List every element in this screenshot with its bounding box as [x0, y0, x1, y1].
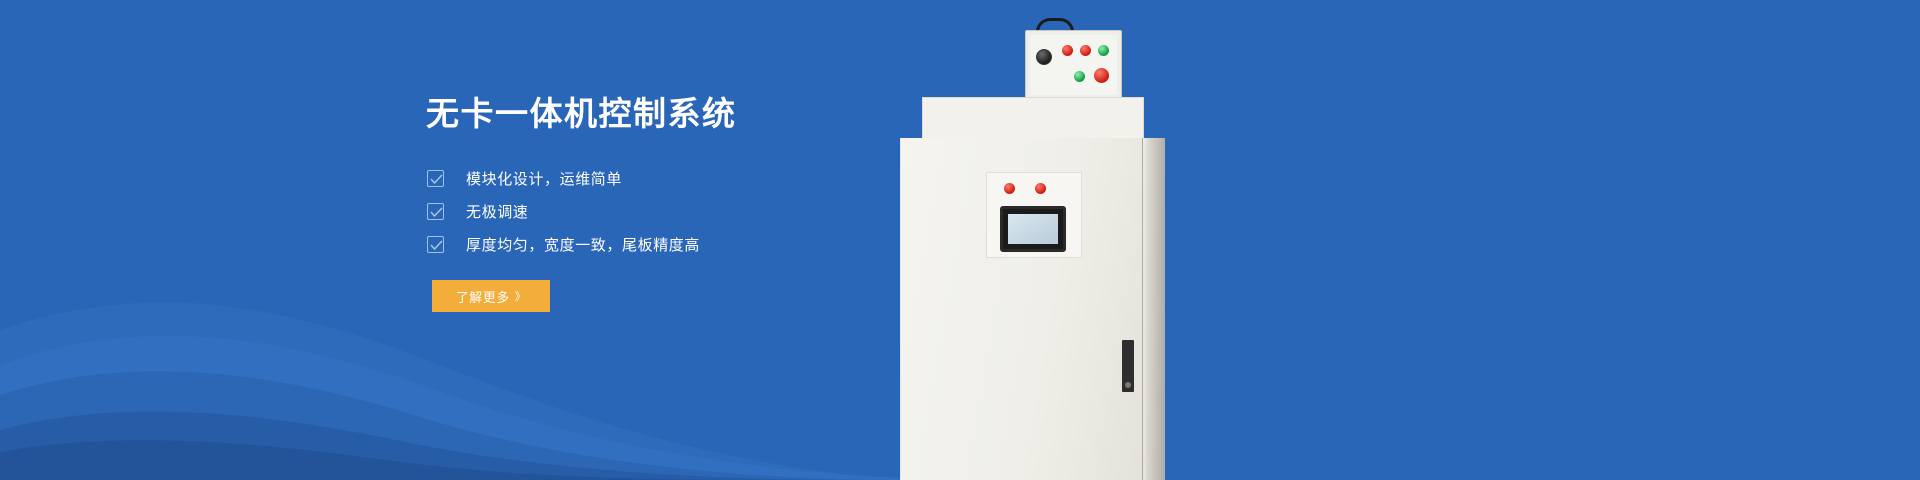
cabinet-lock-icon	[1125, 382, 1131, 388]
indicator-lamp-red	[1094, 68, 1109, 83]
feature-item: 模块化设计，运维简单	[427, 162, 700, 195]
hmi-screen-surface	[1008, 214, 1058, 244]
feature-label: 无极调速	[466, 201, 528, 222]
learn-more-button[interactable]: 了解更多 》	[432, 280, 550, 312]
indicator-lamp-green	[1074, 71, 1085, 82]
checkbox-check-icon	[427, 170, 444, 187]
learn-more-label: 了解更多	[456, 287, 510, 306]
page-title: 无卡一体机控制系统	[426, 94, 737, 134]
hmi-touchscreen	[1000, 206, 1066, 252]
checkbox-check-icon	[427, 203, 444, 220]
cabinet-side-shading	[1146, 138, 1165, 480]
banner-content: 无卡一体机控制系统 模块化设计，运维简单 无极调速	[426, 0, 946, 480]
cabinet-top-ledge	[922, 97, 1144, 139]
feature-list: 模块化设计，运维简单 无极调速 厚度均匀，宽度一致，尾板精度高	[427, 162, 700, 261]
checkbox-check-icon	[427, 236, 444, 253]
feature-label: 厚度均匀，宽度一致，尾板精度高	[466, 234, 700, 255]
feature-item: 厚度均匀，宽度一致，尾板精度高	[427, 228, 700, 261]
top-control-box	[1025, 30, 1122, 100]
hero-banner: 无卡一体机控制系统 模块化设计，运维简单 无极调速	[0, 0, 1920, 480]
cabinet-vent-slot	[1122, 340, 1134, 392]
cabinet-door-seam	[1142, 138, 1143, 480]
selector-knob-icon	[1036, 49, 1052, 65]
panel-lamp-red	[1004, 183, 1015, 194]
indicator-lamp-green	[1098, 45, 1109, 56]
feature-label: 模块化设计，运维简单	[466, 168, 622, 189]
chevron-right-icon: 》	[515, 288, 527, 304]
indicator-lamp-red	[1080, 45, 1091, 56]
feature-item: 无极调速	[427, 195, 700, 228]
indicator-lamp-red	[1062, 45, 1073, 56]
top-control-box-face	[1030, 35, 1117, 95]
panel-lamp-red	[1035, 183, 1046, 194]
